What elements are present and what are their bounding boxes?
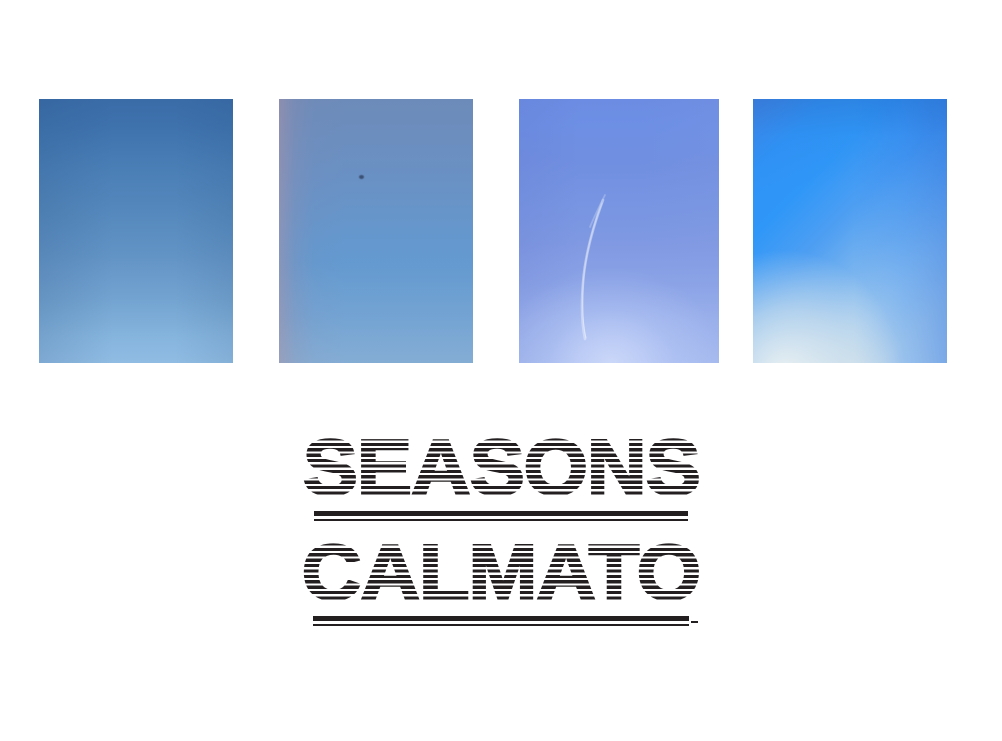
photo-panel-3[interactable] xyxy=(519,99,719,363)
photo-panel-4[interactable] xyxy=(753,99,947,363)
underline-end-tick xyxy=(691,621,698,623)
photo-panel-1[interactable] xyxy=(39,99,233,363)
wordmark-calmato: CALMATO xyxy=(0,530,1002,628)
contrail-streak-icon xyxy=(519,99,719,363)
poster-canvas: SEASONS CALMATO xyxy=(0,0,1002,741)
underline-thin-rule xyxy=(313,624,689,626)
wordmark-calmato-text: CALMATO xyxy=(302,530,700,614)
panel-4-corner-haze xyxy=(753,99,947,363)
wordmark-calmato-underline xyxy=(313,616,689,628)
photo-panel-2[interactable] xyxy=(279,99,473,363)
underline-thin-rule xyxy=(314,519,688,521)
wordmark-seasons: SEASONS xyxy=(0,425,1002,523)
panel-1-edge-shading xyxy=(39,99,233,363)
panel-2-lower-haze xyxy=(279,99,473,363)
underline-thick-rule xyxy=(314,511,688,516)
wordmark-seasons-text: SEASONS xyxy=(303,425,700,509)
bird-speck-icon xyxy=(359,175,364,179)
sky-photo-strip xyxy=(0,0,1002,400)
underline-thick-rule xyxy=(313,616,689,621)
wordmark-seasons-underline xyxy=(314,511,688,523)
